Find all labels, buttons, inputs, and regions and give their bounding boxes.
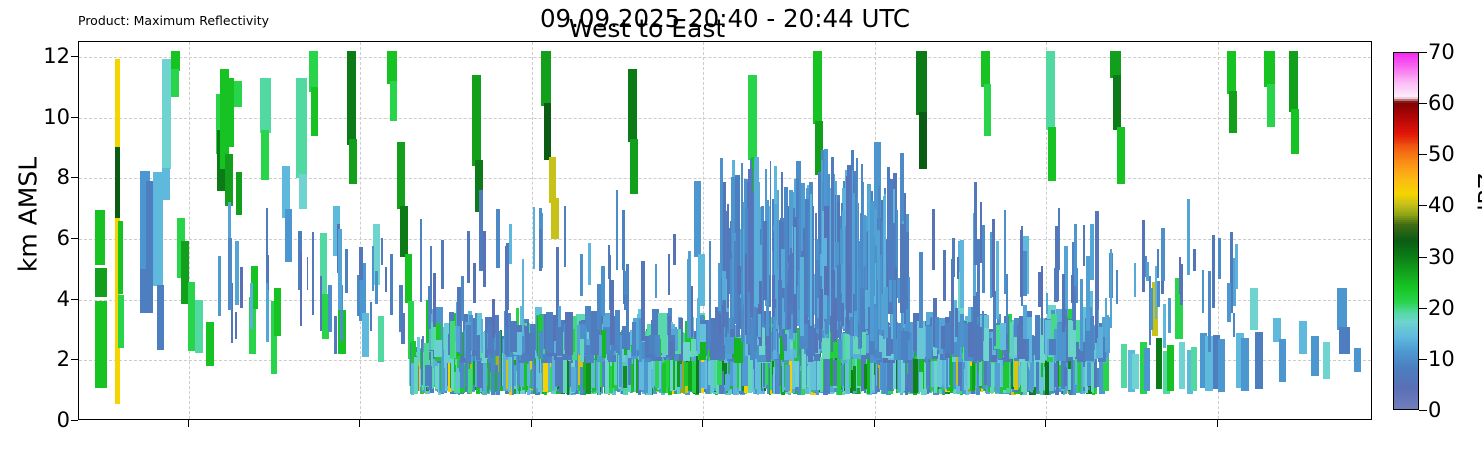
reflectivity-cell <box>227 78 235 146</box>
reflectivity-cell <box>1323 342 1331 378</box>
reflectivity-cell <box>1086 256 1090 331</box>
reflectivity-cell <box>307 257 309 290</box>
reflectivity-cell <box>632 322 636 356</box>
reflectivity-cell <box>769 275 771 307</box>
reflectivity-cell <box>813 51 822 124</box>
reflectivity-cell <box>370 302 372 331</box>
reflectivity-cell <box>235 241 239 305</box>
reflectivity-cell <box>385 267 387 292</box>
y-tick-mark <box>71 177 78 178</box>
reflectivity-cell <box>787 268 791 329</box>
reflectivity-cell <box>687 259 691 338</box>
reflectivity-cell <box>1110 249 1112 329</box>
reflectivity-cell <box>529 333 534 361</box>
reflectivity-cell <box>669 341 674 356</box>
reflectivity-cell <box>1311 336 1319 375</box>
reflectivity-cell <box>1117 127 1125 185</box>
reflectivity-cell <box>884 287 888 338</box>
reflectivity-cell <box>1090 224 1094 279</box>
reflectivity-cell <box>1187 199 1190 275</box>
y-tick-label: 10 <box>43 105 70 129</box>
reflectivity-cell <box>957 257 959 279</box>
reflectivity-cell <box>763 258 765 283</box>
colorbar-tick-mark <box>1419 257 1427 258</box>
reflectivity-cell <box>662 363 666 393</box>
reflectivity-cell <box>800 257 804 335</box>
reflectivity-cell <box>1212 235 1215 308</box>
reflectivity-cell <box>1235 244 1238 290</box>
reflectivity-cell <box>260 78 270 133</box>
reflectivity-cell <box>734 241 738 324</box>
reflectivity-cell <box>840 229 843 263</box>
y-tick-label: 12 <box>43 44 70 68</box>
reflectivity-cell <box>865 290 868 329</box>
reflectivity-cell <box>795 360 799 388</box>
reflectivity-cell <box>877 280 879 354</box>
reflectivity-cell <box>597 284 600 330</box>
reflectivity-cell <box>819 290 821 349</box>
y-tick-mark <box>71 238 78 239</box>
y-axis-label: km AMSL <box>14 125 43 305</box>
y-tick-mark <box>71 299 78 300</box>
reflectivity-cell <box>1150 288 1153 330</box>
reflectivity-cell <box>1000 323 1006 350</box>
reflectivity-cell <box>655 264 658 298</box>
reflectivity-cell <box>162 59 171 170</box>
reflectivity-cell <box>510 321 518 353</box>
reflectivity-cell <box>1279 339 1287 381</box>
x-tick-mark <box>1045 420 1046 427</box>
reflectivity-cell <box>722 271 726 299</box>
reflectivity-cell <box>823 238 827 266</box>
reflectivity-cell <box>472 75 481 166</box>
reflectivity-cell <box>206 322 214 366</box>
reflectivity-cell <box>655 335 660 357</box>
reflectivity-cell <box>1291 109 1299 154</box>
colorbar-tick-mark <box>1419 205 1427 206</box>
x-axis-label: West to East <box>0 14 1294 43</box>
reflectivity-cell <box>641 261 645 341</box>
reflectivity-cell <box>995 363 999 393</box>
reflectivity-cell <box>1264 51 1274 87</box>
reflectivity-cell <box>357 275 360 317</box>
reflectivity-cell <box>943 250 946 300</box>
reflectivity-cell <box>861 317 863 348</box>
reflectivity-cell <box>847 266 850 298</box>
reflectivity-cell <box>741 271 743 310</box>
reflectivity-cell <box>982 225 985 292</box>
reflectivity-cell <box>1004 210 1006 293</box>
reflectivity-cell <box>457 287 461 325</box>
reflectivity-cell <box>889 280 892 302</box>
reflectivity-cell <box>870 201 874 340</box>
reflectivity-cell <box>328 285 332 332</box>
reflectivity-cell <box>982 311 984 341</box>
reflectivity-cell <box>1092 362 1095 393</box>
colorbar-ticks: 010203040506070 <box>1419 52 1479 410</box>
reflectivity-cell <box>473 263 475 303</box>
reflectivity-cell <box>1227 51 1236 93</box>
reflectivity-cell <box>359 247 363 280</box>
reflectivity-cell <box>838 339 842 359</box>
reflectivity-cell <box>476 335 480 360</box>
reflectivity-cell <box>505 325 509 355</box>
reflectivity-cell <box>1250 288 1258 330</box>
reflectivity-cell <box>845 334 850 359</box>
reflectivity-cell <box>820 357 822 392</box>
reflectivity-cell <box>1163 304 1165 348</box>
reflectivity-cell <box>544 103 552 161</box>
reflectivity-cell <box>1121 344 1127 388</box>
reflectivity-cell <box>218 256 221 316</box>
reflectivity-cell <box>853 366 856 390</box>
reflectivity-cell <box>312 232 315 315</box>
reflectivity-cell <box>240 267 244 308</box>
reflectivity-cell <box>1227 283 1231 322</box>
reflectivity-cell <box>509 224 512 264</box>
reflectivity-cell <box>601 266 605 316</box>
reflectivity-cell <box>996 241 999 319</box>
reflectivity-cell <box>381 238 383 266</box>
reflectivity-cell <box>854 316 856 340</box>
reflectivity-cell <box>926 326 933 359</box>
reflectivity-cell <box>908 277 910 332</box>
reflectivity-cell <box>558 306 561 327</box>
reflectivity-cell <box>1229 91 1237 133</box>
reflectivity-cell <box>655 361 658 388</box>
reflectivity-cell <box>1041 266 1043 335</box>
colorbar-tick-mark <box>1419 103 1427 104</box>
reflectivity-cell <box>673 234 676 265</box>
reflectivity-cell <box>580 254 582 296</box>
reflectivity-cell <box>334 316 337 354</box>
reflectivity-cell <box>745 254 747 335</box>
reflectivity-cell <box>539 229 542 271</box>
reflectivity-cell <box>718 263 721 311</box>
reflectivity-cell <box>831 285 835 305</box>
reflectivity-cell <box>893 360 896 389</box>
reflectivity-cell <box>980 202 982 264</box>
reflectivity-cell <box>571 367 576 392</box>
y-tick-mark <box>71 117 78 118</box>
reflectivity-cell <box>1337 288 1347 330</box>
reflectivity-cell <box>908 359 910 392</box>
reflectivity-cell <box>483 231 486 288</box>
x-axis <box>78 420 1372 470</box>
reflectivity-cell <box>225 154 233 206</box>
reflectivity-cell <box>390 81 398 120</box>
reflectivity-cell <box>157 285 165 350</box>
reflectivity-cell <box>299 174 307 209</box>
reflectivity-cell <box>1048 127 1056 182</box>
reflectivity-cell <box>1107 315 1109 349</box>
y-tick-mark <box>71 56 78 57</box>
reflectivity-cell <box>1161 228 1165 280</box>
reflectivity-cell <box>1142 220 1145 292</box>
reflectivity-cell <box>1193 249 1196 271</box>
reflectivity-cell <box>195 300 203 353</box>
reflectivity-cell <box>694 181 702 257</box>
colorbar-tick-label: 30 <box>1428 245 1455 269</box>
reflectivity-cell <box>171 69 179 96</box>
x-tick-mark <box>188 420 189 427</box>
reflectivity-cell <box>441 240 444 289</box>
reflectivity-cell <box>1046 51 1055 130</box>
reflectivity-cell <box>1049 339 1056 354</box>
reflectivity-cell <box>622 210 625 270</box>
reflectivity-cell <box>1354 348 1362 372</box>
reflectivity-cell <box>481 319 484 353</box>
reflectivity-cell <box>345 249 348 293</box>
reflectivity-cell <box>349 139 357 184</box>
reflectivity-cell <box>320 276 322 332</box>
reflectivity-cell <box>527 364 531 386</box>
colorbar-tick-label: 0 <box>1428 398 1441 422</box>
reflectivity-cell <box>1054 268 1057 302</box>
y-tick-label: 4 <box>57 287 70 311</box>
reflectivity-cell <box>1080 279 1082 352</box>
reflectivity-cell <box>261 130 269 180</box>
reflectivity-cell <box>748 75 757 160</box>
reflectivity-cell <box>171 51 180 71</box>
colorbar-tick-mark <box>1419 308 1427 309</box>
reflectivity-cell <box>434 340 442 357</box>
reflectivity-cell <box>932 209 935 270</box>
reflectivity-cell <box>533 207 535 269</box>
reflectivity-cell <box>572 329 575 352</box>
reflectivity-cell <box>414 357 418 394</box>
reflectivity-cell <box>285 209 293 262</box>
reflectivity-cell <box>188 282 196 352</box>
reflectivity-cell <box>405 254 411 303</box>
reflectivity-cell <box>1146 262 1149 281</box>
reflectivity-cell <box>841 303 844 326</box>
colorbar-tick-label: 40 <box>1428 193 1455 217</box>
reflectivity-cell <box>977 239 979 292</box>
reflectivity-cell <box>990 363 994 393</box>
reflectivity-cell <box>466 325 470 363</box>
reflectivity-cell <box>522 259 524 337</box>
reflectivity-cell <box>1054 363 1057 386</box>
reflectivity-cell <box>400 206 408 258</box>
reflectivity-cell <box>1083 367 1085 387</box>
reflectivity-cell <box>420 219 422 302</box>
reflectivity-cell <box>115 147 120 218</box>
reflectivity-cell <box>1032 336 1036 356</box>
reflectivity-cell <box>1233 313 1235 337</box>
x-tick-mark <box>1217 420 1218 427</box>
x-tick-mark <box>702 420 703 427</box>
reflectivity-cell <box>433 273 436 327</box>
y-tick-label: 2 <box>57 347 70 371</box>
reflectivity-cell <box>785 365 790 391</box>
reflectivity-cell <box>919 372 923 392</box>
reflectivity-cell <box>1116 270 1118 304</box>
y-tick-label: 8 <box>57 165 70 189</box>
reflectivity-cell <box>456 368 459 388</box>
reflectivity-cell <box>162 168 170 200</box>
reflectivity-cell <box>683 342 690 361</box>
reflectivity-cell <box>309 51 318 92</box>
reflectivity-cell <box>1339 327 1349 354</box>
reflectivity-cell <box>616 190 618 270</box>
colorbar <box>1393 52 1419 410</box>
reflectivity-cell <box>904 193 906 324</box>
reflectivity-cell <box>778 280 782 325</box>
reflectivity-cell <box>1132 354 1138 389</box>
reflectivity-cell <box>425 365 430 386</box>
reflectivity-cell <box>468 369 473 393</box>
reflectivity-cell <box>668 254 670 295</box>
reflectivity-cell <box>877 368 879 392</box>
reflectivity-cell <box>955 308 958 338</box>
reflectivity-cell <box>228 238 232 310</box>
reflectivity-cell <box>841 365 844 386</box>
y-tick-mark <box>71 420 78 421</box>
reflectivity-cell <box>984 328 989 361</box>
reflectivity-cell <box>919 252 922 327</box>
reflectivity-cell <box>990 232 992 297</box>
reflectivity-cell <box>580 339 584 361</box>
radar-cross-section-figure: Product: Maximum Reflectivity 09.09.2025… <box>0 0 1482 470</box>
reflectivity-cell <box>428 286 430 329</box>
reflectivity-cell <box>837 265 841 321</box>
reflectivity-cell <box>362 313 368 357</box>
reflectivity-cell <box>250 283 252 330</box>
reflectivity-cell <box>628 69 637 142</box>
reflectivity-cell <box>725 374 730 391</box>
reflectivity-cell <box>387 51 397 84</box>
reflectivity-cell <box>757 360 761 395</box>
reflectivity-cell <box>496 209 500 268</box>
reflectivity-cell <box>818 266 820 297</box>
reflectivity-cell <box>610 280 614 345</box>
reflectivity-cell <box>539 331 544 358</box>
reflectivity-cell <box>1023 251 1026 296</box>
reflectivity-cell <box>719 314 721 333</box>
reflectivity-cell <box>95 301 108 387</box>
reflectivity-cells <box>79 42 1371 419</box>
reflectivity-cell <box>773 317 776 350</box>
reflectivity-cell <box>274 288 280 337</box>
reflectivity-cell <box>397 142 405 209</box>
reflectivity-cell <box>1087 361 1091 385</box>
colorbar-tick-mark <box>1419 154 1427 155</box>
reflectivity-cell <box>421 339 423 385</box>
reflectivity-cell <box>430 246 432 315</box>
reflectivity-cell <box>916 51 926 115</box>
plot-area <box>78 41 1372 420</box>
reflectivity-cell <box>467 231 470 282</box>
reflectivity-cell <box>1144 348 1150 390</box>
reflectivity-cell <box>1023 305 1027 339</box>
colorbar-tick-mark <box>1419 410 1427 411</box>
reflectivity-cell <box>1218 238 1222 278</box>
reflectivity-cell <box>1006 274 1008 335</box>
reflectivity-cell <box>812 289 814 341</box>
reflectivity-cell <box>651 369 654 387</box>
reflectivity-cell <box>1168 298 1171 333</box>
reflectivity-cell <box>551 198 559 239</box>
reflectivity-cell <box>974 325 980 357</box>
reflectivity-cell <box>1241 338 1249 391</box>
reflectivity-cell <box>1191 347 1197 391</box>
reflectivity-cell <box>1208 271 1212 352</box>
reflectivity-cell <box>684 362 689 386</box>
reflectivity-cell <box>734 338 743 363</box>
reflectivity-cell <box>1255 332 1263 390</box>
reflectivity-cell <box>951 270 954 354</box>
reflectivity-cell <box>390 254 392 314</box>
colorbar-segment <box>1394 52 1418 53</box>
reflectivity-cell <box>118 221 123 294</box>
colorbar-gradient <box>1393 52 1419 410</box>
reflectivity-cell <box>794 227 796 294</box>
reflectivity-cell <box>952 238 955 278</box>
reflectivity-cell <box>492 299 495 338</box>
colorbar-tick-label: 70 <box>1428 40 1455 64</box>
reflectivity-cell <box>347 51 356 145</box>
reflectivity-cell <box>1095 211 1099 293</box>
reflectivity-cell <box>981 51 990 87</box>
reflectivity-cell <box>935 317 938 348</box>
reflectivity-cell <box>375 271 378 304</box>
reflectivity-cell <box>758 314 761 336</box>
reflectivity-cell <box>1179 342 1185 389</box>
y-tick-label: 6 <box>57 226 70 250</box>
colorbar-tick-label: 50 <box>1428 142 1455 166</box>
colorbar-label: dBZ <box>1475 136 1482 256</box>
reflectivity-cell <box>234 81 242 107</box>
colorbar-tick-mark <box>1419 52 1427 53</box>
reflectivity-cell <box>95 210 105 265</box>
reflectivity-cell <box>583 364 586 389</box>
reflectivity-cell <box>1064 367 1067 387</box>
reflectivity-cell <box>1134 263 1136 297</box>
reflectivity-cell <box>992 219 995 296</box>
x-tick-mark <box>874 420 875 427</box>
reflectivity-cell <box>960 240 963 308</box>
reflectivity-cell <box>450 321 456 359</box>
reflectivity-cell <box>1046 293 1048 314</box>
reflectivity-cell <box>602 330 606 358</box>
x-tick-mark <box>531 420 532 427</box>
reflectivity-cell <box>236 172 242 214</box>
reflectivity-cell <box>553 315 556 341</box>
reflectivity-cell <box>835 242 839 268</box>
reflectivity-cell <box>777 220 779 269</box>
reflectivity-cell <box>401 313 405 344</box>
reflectivity-cell <box>1113 75 1121 130</box>
reflectivity-cell <box>1289 51 1298 112</box>
reflectivity-cell <box>1167 345 1173 390</box>
reflectivity-cell <box>1071 275 1073 303</box>
reflectivity-cell <box>893 280 896 354</box>
reflectivity-cell <box>701 362 706 388</box>
y-tick-label: 0 <box>57 408 70 432</box>
reflectivity-cell <box>311 87 319 136</box>
reflectivity-cell <box>852 193 855 294</box>
reflectivity-cell <box>624 271 627 295</box>
reflectivity-cell <box>1110 51 1120 78</box>
reflectivity-cell <box>727 204 729 308</box>
reflectivity-cell <box>608 245 610 279</box>
reflectivity-cell <box>1156 338 1162 390</box>
reflectivity-cell <box>817 361 820 390</box>
reflectivity-cell <box>541 51 551 106</box>
reflectivity-cell <box>1035 315 1040 360</box>
reflectivity-cell <box>863 215 867 266</box>
